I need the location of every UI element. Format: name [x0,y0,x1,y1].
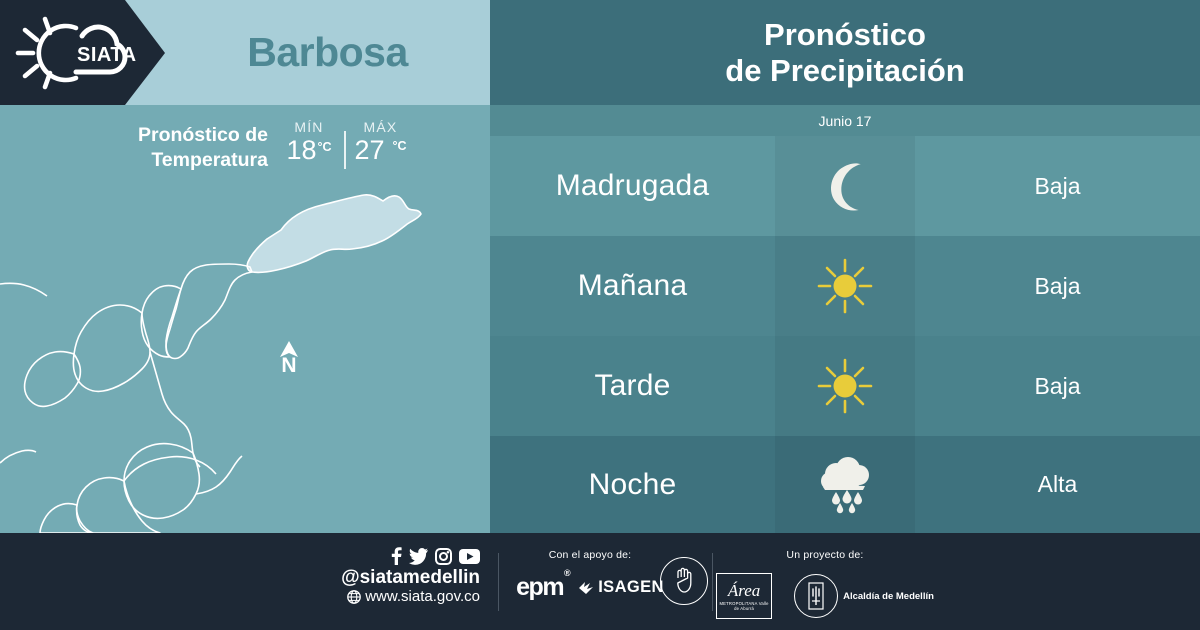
hand-seal-icon [671,564,697,598]
project-block: Un proyecto de: Área METROPOLITANA Valle… [700,549,950,619]
icon-cell [775,236,915,336]
period-cell: Mañana [490,236,775,336]
isagen-text: ISAGEN [598,578,664,597]
forecast-date: Junio 17 [819,113,872,129]
sun-icon [816,357,874,415]
compass-label: N [281,356,296,376]
map-region-east-line [196,456,242,494]
min-unit: °C [318,140,332,154]
footer: @siatamedellin www.siata.gov.co Con el a… [0,533,1200,630]
period-label: Mañana [578,269,688,303]
period-label: Madrugada [556,169,710,203]
right-panel: Pronóstico de Precipitación Junio 17 Mad… [490,0,1200,533]
twitter-icon[interactable] [409,548,428,565]
left-header: SIATA Barbosa [0,0,490,105]
map-highlight-barbosa [247,195,421,273]
period-label: Noche [589,468,677,502]
support-block: Con el apoyo de: epm® ISAGEN [500,549,680,602]
temperature-values: MÍN 18 °C MÁX 27 °C [278,119,412,169]
epm-logo[interactable]: epm® [516,573,568,602]
max-unit: °C [393,139,407,153]
city-name: Barbosa [165,0,490,105]
siata-logo-text: SIATA [77,44,137,66]
sun-icon [816,257,874,315]
temperature-summary: Pronóstico de Temperatura MÍN 18 °C MÁX … [0,105,490,185]
probability-cell: Baja [915,136,1200,236]
website-url: www.siata.gov.co [365,588,480,605]
precipitation-header: Pronóstico de Precipitación [490,0,1200,105]
compass: N [278,340,300,376]
map-region-medellin [124,444,199,519]
area-metropolitana-logo[interactable]: Área METROPOLITANA Valle de Aburrá [716,573,772,619]
infographic-root: SIATA Barbosa Pronóstico de Temperatura … [0,0,1200,630]
period-cell: Tarde [490,336,775,436]
rain-cloud-icon [814,456,876,514]
map-region-bello [73,305,150,391]
map-region-itagui [77,478,160,533]
map-river-line [150,352,200,467]
support-caption: Con el apoyo de: [500,549,680,561]
globe-icon [347,590,361,604]
map-outer-contour [0,283,47,463]
period-label: Tarde [594,369,670,403]
temperature-title-line1: Pronóstico de [138,124,268,146]
left-panel: SIATA Barbosa Pronóstico de Temperatura … [0,0,490,533]
area-logo-sub: METROPOLITANA Valle de Aburrá [717,601,771,611]
probability-cell: Baja [915,336,1200,436]
probability-label: Baja [1034,173,1080,200]
footer-divider [498,553,499,611]
period-cell: Madrugada [490,136,775,236]
table-row: Madrugada Baja [490,136,1200,236]
precipitation-title-line1: Pronóstico [764,17,926,52]
temperature-max: MÁX 27 °C [350,119,412,164]
probability-label: Baja [1034,373,1080,400]
map-region-copacabana [141,286,181,357]
table-row: Mañana [490,236,1200,336]
isagen-mark-icon [578,580,595,595]
alcaldia-seal-icon [794,574,838,618]
probability-cell: Alta [915,436,1200,533]
social-icons [390,547,480,565]
probability-cell: Baja [915,236,1200,336]
instagram-icon[interactable] [435,548,452,565]
footer-spacer [750,557,751,607]
max-value: 27 [354,137,384,164]
temperature-title: Pronóstico de Temperatura [88,123,268,173]
icon-cell [775,336,915,436]
map-region-girardota [166,264,252,359]
temperature-divider [344,131,346,169]
project-caption: Un proyecto de: [700,549,950,561]
facebook-icon[interactable] [390,547,402,565]
social-block: @siatamedellin www.siata.gov.co [330,547,480,605]
temperature-min: MÍN 18 °C [278,119,340,164]
precipitation-title-line2: de Precipitación [725,53,964,88]
moon-icon [818,159,872,213]
youtube-icon[interactable] [459,549,480,564]
period-cell: Noche [490,436,775,533]
isagen-logo[interactable]: ISAGEN [578,578,664,597]
date-band: Junio 17 [490,105,1200,136]
alcaldia-label: Alcaldía de Medellín [843,591,934,602]
probability-label: Baja [1034,273,1080,300]
precipitation-title: Pronóstico de Precipitación [725,17,964,89]
table-row: Tarde [490,336,1200,436]
support-logos: epm® ISAGEN [500,573,680,602]
icon-cell [775,136,915,236]
central-seal[interactable] [660,557,708,605]
table-row: Noche [490,436,1200,533]
social-handle[interactable]: @siatamedellin [341,567,480,588]
map-region-envigado [40,504,93,533]
siata-logo-block[interactable]: SIATA [0,0,165,105]
alcaldia-logo[interactable]: Alcaldía de Medellín [794,574,934,618]
temperature-title-line2: Temperatura [151,149,268,171]
map-region-west [124,457,216,481]
website-row[interactable]: www.siata.gov.co [347,588,480,605]
map-region-northwest [25,352,81,407]
area-logo-text: Área [728,582,760,599]
map-area: N [0,185,490,533]
min-value: 18 [286,137,316,164]
min-label: MÍN [294,119,323,135]
probability-label: Alta [1038,471,1078,498]
sun-cloud-icon: SIATA [14,14,154,92]
project-logos: Área METROPOLITANA Valle de Aburrá Alcal… [700,573,950,619]
aburra-valley-map [0,185,490,533]
icon-cell [775,436,915,533]
max-label: MÁX [364,119,398,135]
forecast-table: Madrugada Baja Mañana [490,136,1200,533]
